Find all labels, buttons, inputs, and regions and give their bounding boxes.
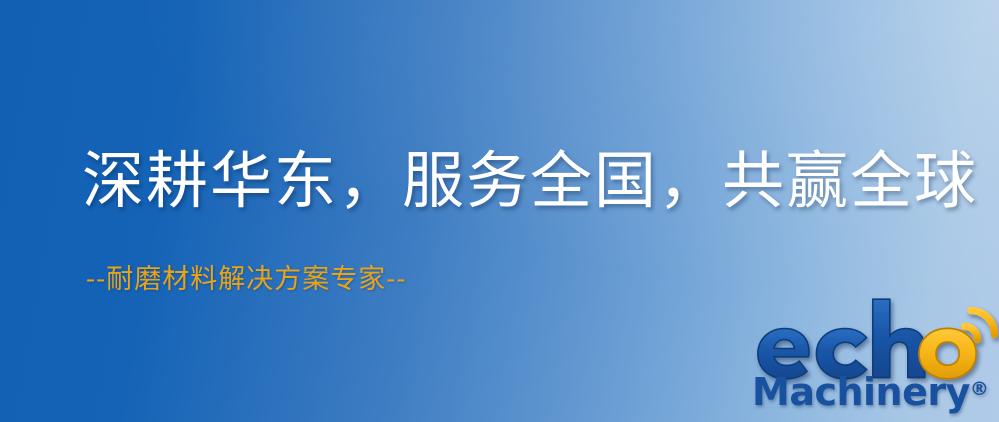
registered-trademark-icon: ® — [970, 378, 989, 400]
banner-headline: 深耕华东，服务全国，共赢全球 — [82, 148, 978, 213]
logo-tagline-text: Machinery — [752, 370, 970, 414]
logo-tagline: Machinery® — [752, 370, 989, 414]
logo-letter-h — [873, 299, 925, 377]
banner-subtitle: --耐磨材料解决方案专家-- — [86, 264, 407, 296]
promo-banner: 深耕华东，服务全国，共赢全球 --耐磨材料解决方案专家-- — [0, 0, 999, 422]
echo-machinery-logo: Machinery® — [748, 296, 999, 422]
